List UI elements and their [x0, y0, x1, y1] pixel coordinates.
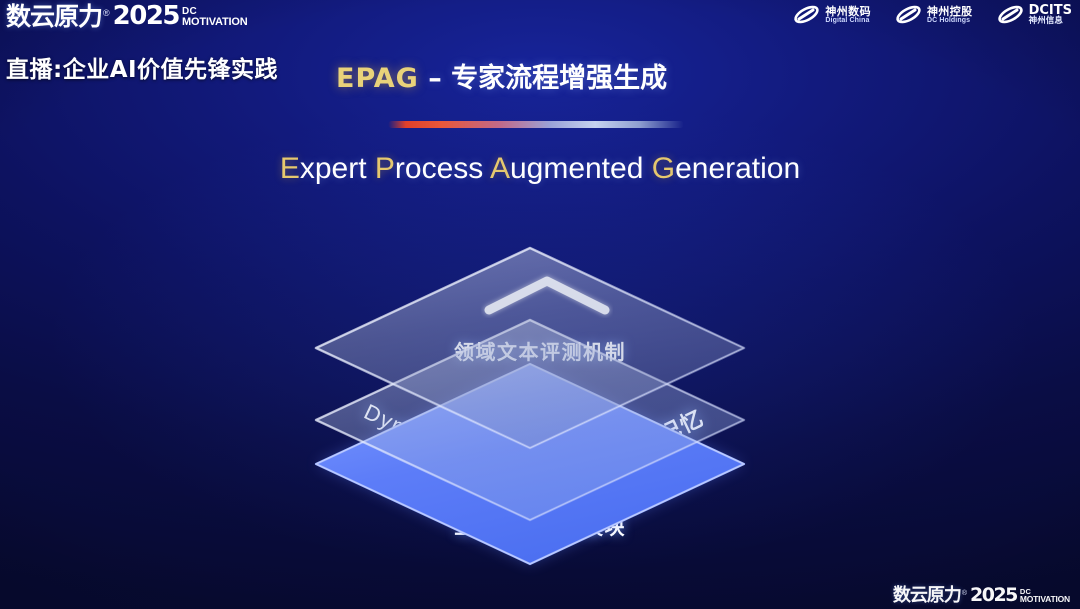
- footer-brand-logo: 数云原力 ® 2025 DC MOTIVATION: [893, 586, 1070, 605]
- footer-brand-year: 2025: [970, 586, 1017, 605]
- slide-subtitle: Expert Process Augmented Generation: [0, 152, 1080, 186]
- subtitle-cap-p: P: [375, 152, 395, 185]
- brand-logo-dc-motivation: DC MOTIVATION: [182, 7, 247, 27]
- partner-name-en: Digital China: [825, 17, 871, 24]
- footer-brand-dc-motivation: DC MOTIVATION: [1020, 588, 1070, 603]
- partner-logo-dc-holdings-text: 神州控股 DC Holdings: [927, 6, 973, 24]
- slide-title-chinese: 专家流程增强生成: [451, 63, 667, 94]
- subtitle-cap-e: E: [280, 152, 300, 185]
- diagram-layer-top: [298, 232, 762, 464]
- subtitle-rest-augmented: ugmented: [510, 152, 643, 185]
- layered-architecture-diagram: [298, 232, 762, 580]
- live-broadcast-label: 直播:企业AI价值先锋实践: [6, 50, 278, 84]
- brand-logo: 数云原力 ® 2025 DC MOTIVATION: [6, 3, 247, 29]
- slide-header: 数云原力 ® 2025 DC MOTIVATION 直播:企业AI价值先锋实践 …: [0, 0, 1080, 44]
- brand-logo-year: 2025: [113, 3, 179, 29]
- subtitle-rest-generation: eneration: [675, 152, 800, 185]
- subtitle-space-3: [643, 152, 651, 185]
- partner-name-cn: 神州数码: [825, 6, 871, 17]
- brand-logo-chinese: 数云原力: [6, 4, 102, 29]
- partner-name-en: DC Holdings: [927, 17, 973, 24]
- partner-name-cn: 神州控股: [927, 6, 973, 17]
- brand-logo-registered-mark: ®: [103, 8, 110, 18]
- slide-title: EPAG – 专家流程增强生成: [336, 56, 667, 95]
- partner-logo-dcits: DCITS 神州信息: [997, 4, 1072, 26]
- slide-title-separator: –: [419, 63, 451, 94]
- subtitle-rest-process: rocess: [395, 152, 483, 185]
- title-divider: [388, 121, 684, 128]
- dc-holdings-swirl-icon: [895, 4, 922, 25]
- subtitle-rest-expert: xpert: [300, 152, 367, 185]
- subtitle-space-2: [483, 152, 490, 185]
- footer-brand-chinese: 数云原力: [893, 587, 961, 605]
- digital-china-swirl-icon: [793, 4, 820, 25]
- subtitle-space-1: [367, 152, 375, 185]
- dcits-swirl-icon: [997, 4, 1024, 25]
- subtitle-cap-a: A: [490, 152, 510, 185]
- brand-logo-motivation-text: MOTIVATION: [182, 17, 247, 27]
- partner-logo-group: 神州数码 Digital China 神州控股 DC Holdings: [793, 4, 1072, 26]
- slide-title-acronym: EPAG: [336, 63, 419, 94]
- footer-brand-motivation-text: MOTIVATION: [1020, 595, 1070, 603]
- footer-brand-registered-mark: ®: [962, 590, 967, 597]
- partner-logo-digital-china-text: 神州数码 Digital China: [825, 6, 871, 24]
- subtitle-cap-g: G: [652, 152, 675, 185]
- partner-logo-dc-holdings: 神州控股 DC Holdings: [895, 4, 973, 25]
- partner-logo-dcits-text: DCITS 神州信息: [1029, 4, 1072, 26]
- partner-logo-digital-china: 神州数码 Digital China: [793, 4, 871, 25]
- partner-name-en: 神州信息: [1029, 17, 1072, 26]
- presentation-slide: 数云原力 ® 2025 DC MOTIVATION 直播:企业AI价值先锋实践 …: [0, 0, 1080, 609]
